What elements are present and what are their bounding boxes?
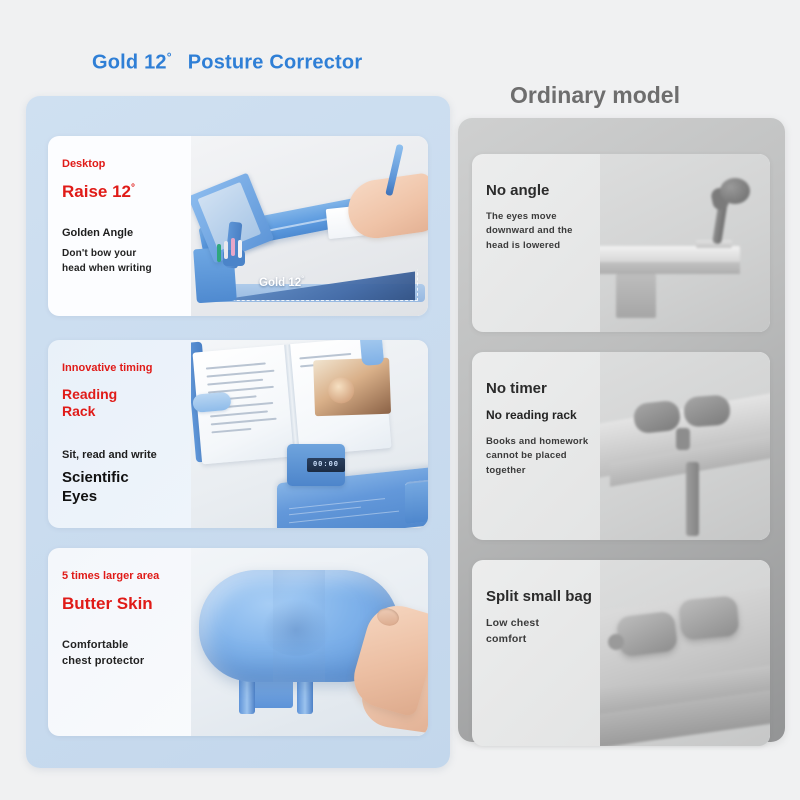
- r-card2-subtitle: No reading rack: [486, 408, 594, 423]
- card3-body: Comfortable chest protector: [62, 638, 181, 670]
- ordinary-card-split-bag: Split small bag Low chest comfort: [472, 560, 770, 746]
- headline-left-product: Gold 12: [92, 52, 167, 74]
- card3-eyebrow: 5 times larger area: [62, 570, 181, 584]
- r-card1-title: No angle: [486, 182, 594, 200]
- r-card3-title: Split small bag: [486, 588, 594, 606]
- card1-title-degree: °: [131, 182, 135, 193]
- card2-eyebrow: Innovative timing: [62, 362, 181, 376]
- card1-image: Gold 12°: [191, 136, 428, 316]
- r-card3-image: [600, 560, 770, 746]
- timer-readout: 00:00: [307, 458, 345, 472]
- gold12-feature-panel: Desktop Raise 12° Golden Angle Don't bow…: [26, 96, 450, 768]
- r-card1-body: The eyes move downward and the head is l…: [486, 210, 594, 253]
- ordinary-card-2-text: No timer No reading rack Books and homew…: [472, 352, 600, 540]
- card1-eyebrow: Desktop: [62, 158, 181, 172]
- headline-left-degree: °: [167, 50, 172, 64]
- card2-image: 00:00: [191, 340, 428, 528]
- card1-image-label: Gold 12°: [259, 276, 304, 289]
- feature-card-1-text: Desktop Raise 12° Golden Angle Don't bow…: [48, 136, 191, 316]
- headline-left-suffix: Posture Corrector: [188, 52, 363, 74]
- r-card1-image: [600, 154, 770, 332]
- card3-title: Butter Skin: [62, 594, 181, 614]
- r-card2-title: No timer: [486, 380, 594, 398]
- ordinary-card-no-angle: No angle The eyes move downward and the …: [472, 154, 770, 332]
- card2-title: Reading Rack: [62, 386, 181, 420]
- feature-card-2-text: Innovative timing Reading Rack Sit, read…: [48, 340, 191, 528]
- card1-title: Raise 12°: [62, 182, 181, 202]
- feature-card-reading-rack: Innovative timing Reading Rack Sit, read…: [48, 340, 428, 528]
- card1-subtitle: Golden Angle: [62, 226, 181, 240]
- r-card2-body: Books and homework cannot be placed toge…: [486, 435, 594, 478]
- card2-subtitle: Sit, read and write: [62, 448, 181, 462]
- left-product-headline: Gold 12°Posture Corrector: [92, 50, 362, 75]
- r-card3-body: Low chest comfort: [486, 616, 594, 648]
- ordinary-card-3-text: Split small bag Low chest comfort: [472, 560, 600, 746]
- feature-card-3-text: 5 times larger area Butter Skin Comforta…: [48, 548, 191, 736]
- card2-body: Scientific Eyes: [62, 469, 181, 507]
- card1-body: Don't bow your head when writing: [62, 247, 181, 276]
- r-card2-image: [600, 352, 770, 540]
- ordinary-model-panel: No angle The eyes move downward and the …: [458, 118, 785, 742]
- ordinary-card-1-text: No angle The eyes move downward and the …: [472, 154, 600, 332]
- feature-card-raise-angle: Desktop Raise 12° Golden Angle Don't bow…: [48, 136, 428, 316]
- card3-image: [191, 548, 428, 736]
- feature-card-butter-skin: 5 times larger area Butter Skin Comforta…: [48, 548, 428, 736]
- right-product-headline: Ordinary model: [510, 82, 680, 109]
- ordinary-card-no-timer: No timer No reading rack Books and homew…: [472, 352, 770, 540]
